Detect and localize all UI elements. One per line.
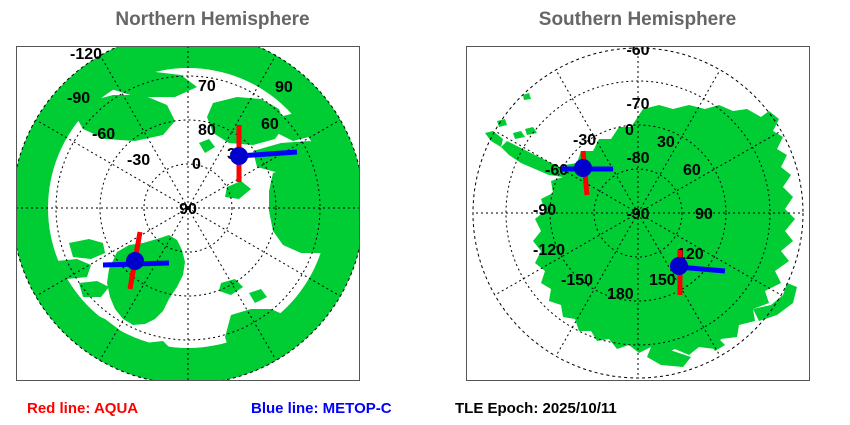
- label-lat-m60: -60: [626, 47, 649, 59]
- label-lat-m70: -70: [626, 96, 649, 113]
- label-lat-80: 80: [198, 122, 216, 139]
- northern-panel-title: Northern Hemisphere: [0, 8, 425, 32]
- label-lat-m80: -80: [626, 150, 649, 167]
- label-lon-m90: -90: [67, 90, 90, 107]
- label-lon-150: 150: [649, 272, 676, 289]
- label-lon-m150: -150: [561, 272, 593, 289]
- satellite-polar-map-page: Northern Hemisphere: [0, 0, 850, 425]
- satellite-position-dot: [230, 147, 248, 165]
- label-lon-120: 120: [251, 47, 278, 51]
- southern-polar-map: -90 -80 -70 -60 0 30 60 90 120 150 180 -…: [467, 47, 809, 380]
- label-lon-180: 180: [607, 286, 634, 303]
- legend-red-line-aqua: Red line: AQUA: [27, 400, 138, 417]
- label-lat-90: 90: [179, 201, 197, 218]
- legend-blue-line-metopc: Blue line: METOP-C: [251, 400, 392, 417]
- northern-hemisphere-panel: Northern Hemisphere: [0, 0, 425, 425]
- label-lon-m60: -60: [92, 126, 115, 143]
- label-lon-60: 60: [683, 162, 701, 179]
- label-lon-m30: -30: [127, 152, 150, 169]
- legend-tle-epoch: TLE Epoch: 2025/10/11: [455, 400, 617, 417]
- label-lon-0: 0: [625, 122, 634, 139]
- label-lon-m120: -120: [533, 242, 565, 259]
- label-lon-30: 30: [657, 134, 675, 151]
- northern-polar-map: 90 80 70 60 0 30 60 90 120 150 180 -150 …: [17, 47, 359, 380]
- label-lon-90: 90: [695, 206, 713, 223]
- label-lon-0: 0: [192, 156, 201, 173]
- footer-legend: Red line: AQUA Blue line: METOP-C TLE Ep…: [0, 396, 850, 425]
- label-lat-60: 60: [198, 47, 216, 51]
- label-lon-60: 60: [261, 116, 279, 133]
- label-lon-m120: -120: [70, 47, 102, 63]
- northern-plot-frame: 90 80 70 60 0 30 60 90 120 150 180 -150 …: [16, 46, 360, 381]
- label-lat-70: 70: [198, 78, 216, 95]
- label-lon-m30: -30: [573, 132, 596, 149]
- satellite-position-dot: [670, 257, 688, 275]
- label-lat-m90: -90: [626, 206, 649, 223]
- satellite-position-dot: [574, 159, 592, 177]
- southern-plot-frame: -90 -80 -70 -60 0 30 60 90 120 150 180 -…: [466, 46, 810, 381]
- label-lon-m90: -90: [533, 202, 556, 219]
- southern-panel-title: Southern Hemisphere: [425, 8, 850, 32]
- label-lon-90: 90: [275, 79, 293, 96]
- southern-hemisphere-panel: Southern Hemisphere: [425, 0, 850, 425]
- satellite-position-dot: [126, 252, 144, 270]
